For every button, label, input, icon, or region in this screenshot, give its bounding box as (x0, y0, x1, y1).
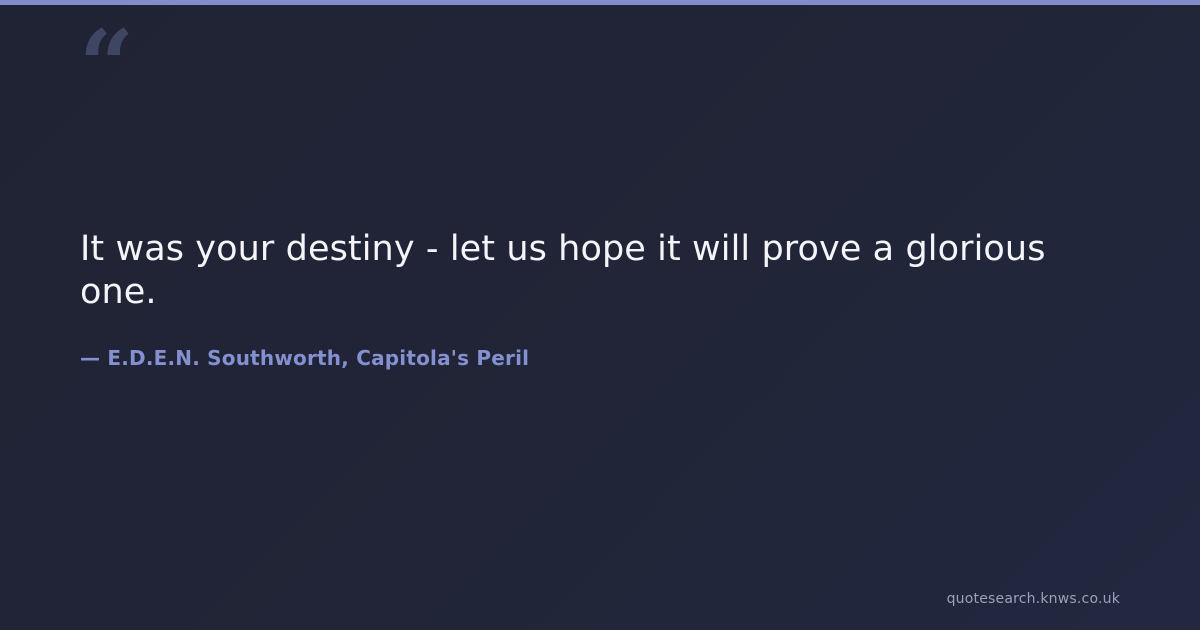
quote-content: It was your destiny - let us hope it wil… (80, 228, 1130, 371)
quote-card: “ It was your destiny - let us hope it w… (0, 0, 1200, 630)
top-accent-bar (0, 0, 1200, 5)
quote-attribution: — E.D.E.N. Southworth, Capitola's Peril (80, 345, 1130, 371)
quote-text: It was your destiny - let us hope it wil… (80, 228, 1120, 314)
quote-open-icon: “ (79, 18, 132, 114)
footer-site-url: quotesearch.knws.co.uk (947, 590, 1120, 608)
